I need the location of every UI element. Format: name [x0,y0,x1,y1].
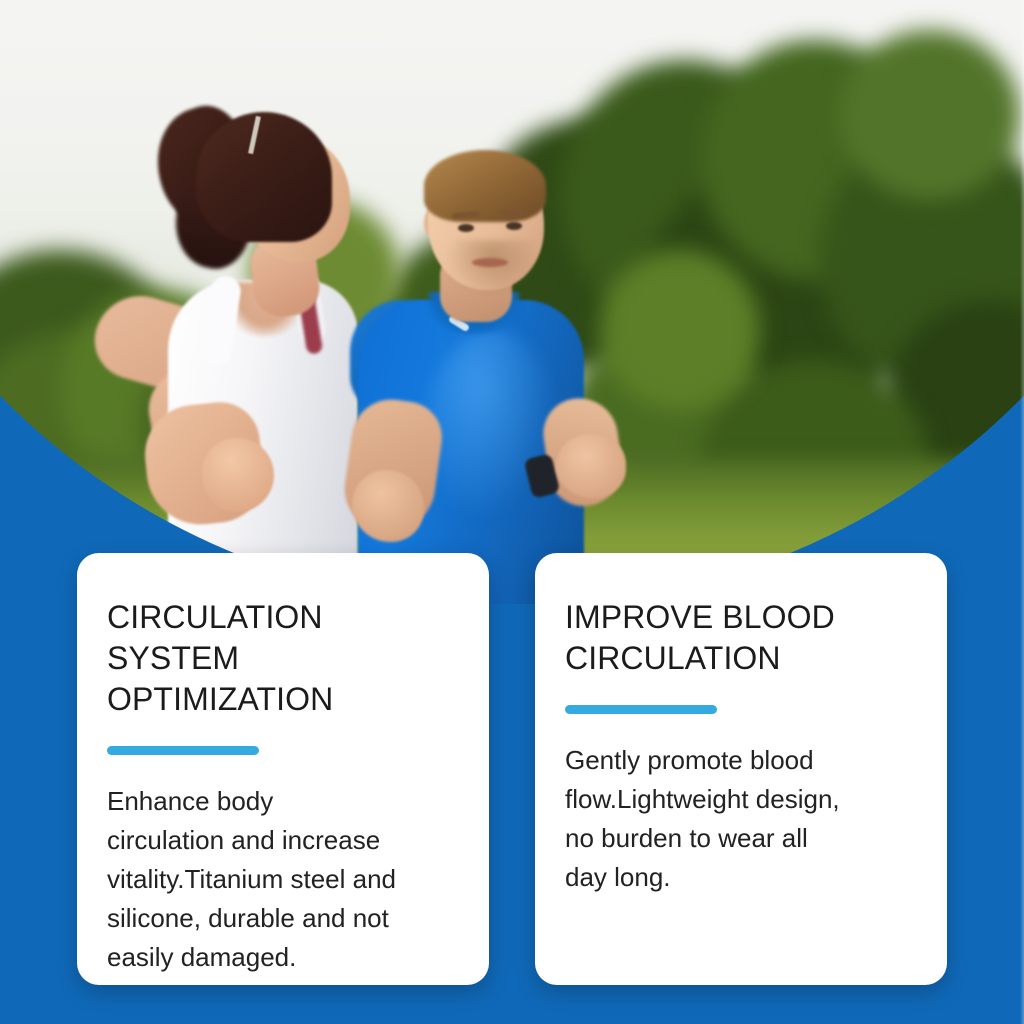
hero-photo [0,0,1024,608]
card-title: IMPROVE BLOOD CIRCULATION [565,597,917,679]
product-feature-poster: CIRCULATION SYSTEM OPTIMIZATION Enhance … [0,0,1024,1024]
accent-bar [565,705,717,714]
card-body-text: Gently promote blood flow.Lightweight de… [565,741,917,897]
card-body-text: Enhance body circulation and increase vi… [107,782,459,977]
hero-photo-region [0,0,1024,608]
feature-cards-row: CIRCULATION SYSTEM OPTIMIZATION Enhance … [0,553,1024,985]
card-title: CIRCULATION SYSTEM OPTIMIZATION [107,597,459,720]
feature-card-improve-blood-circulation: IMPROVE BLOOD CIRCULATION Gently promote… [535,553,947,985]
accent-bar [107,746,259,755]
feature-card-circulation-system-optimization: CIRCULATION SYSTEM OPTIMIZATION Enhance … [77,553,489,985]
